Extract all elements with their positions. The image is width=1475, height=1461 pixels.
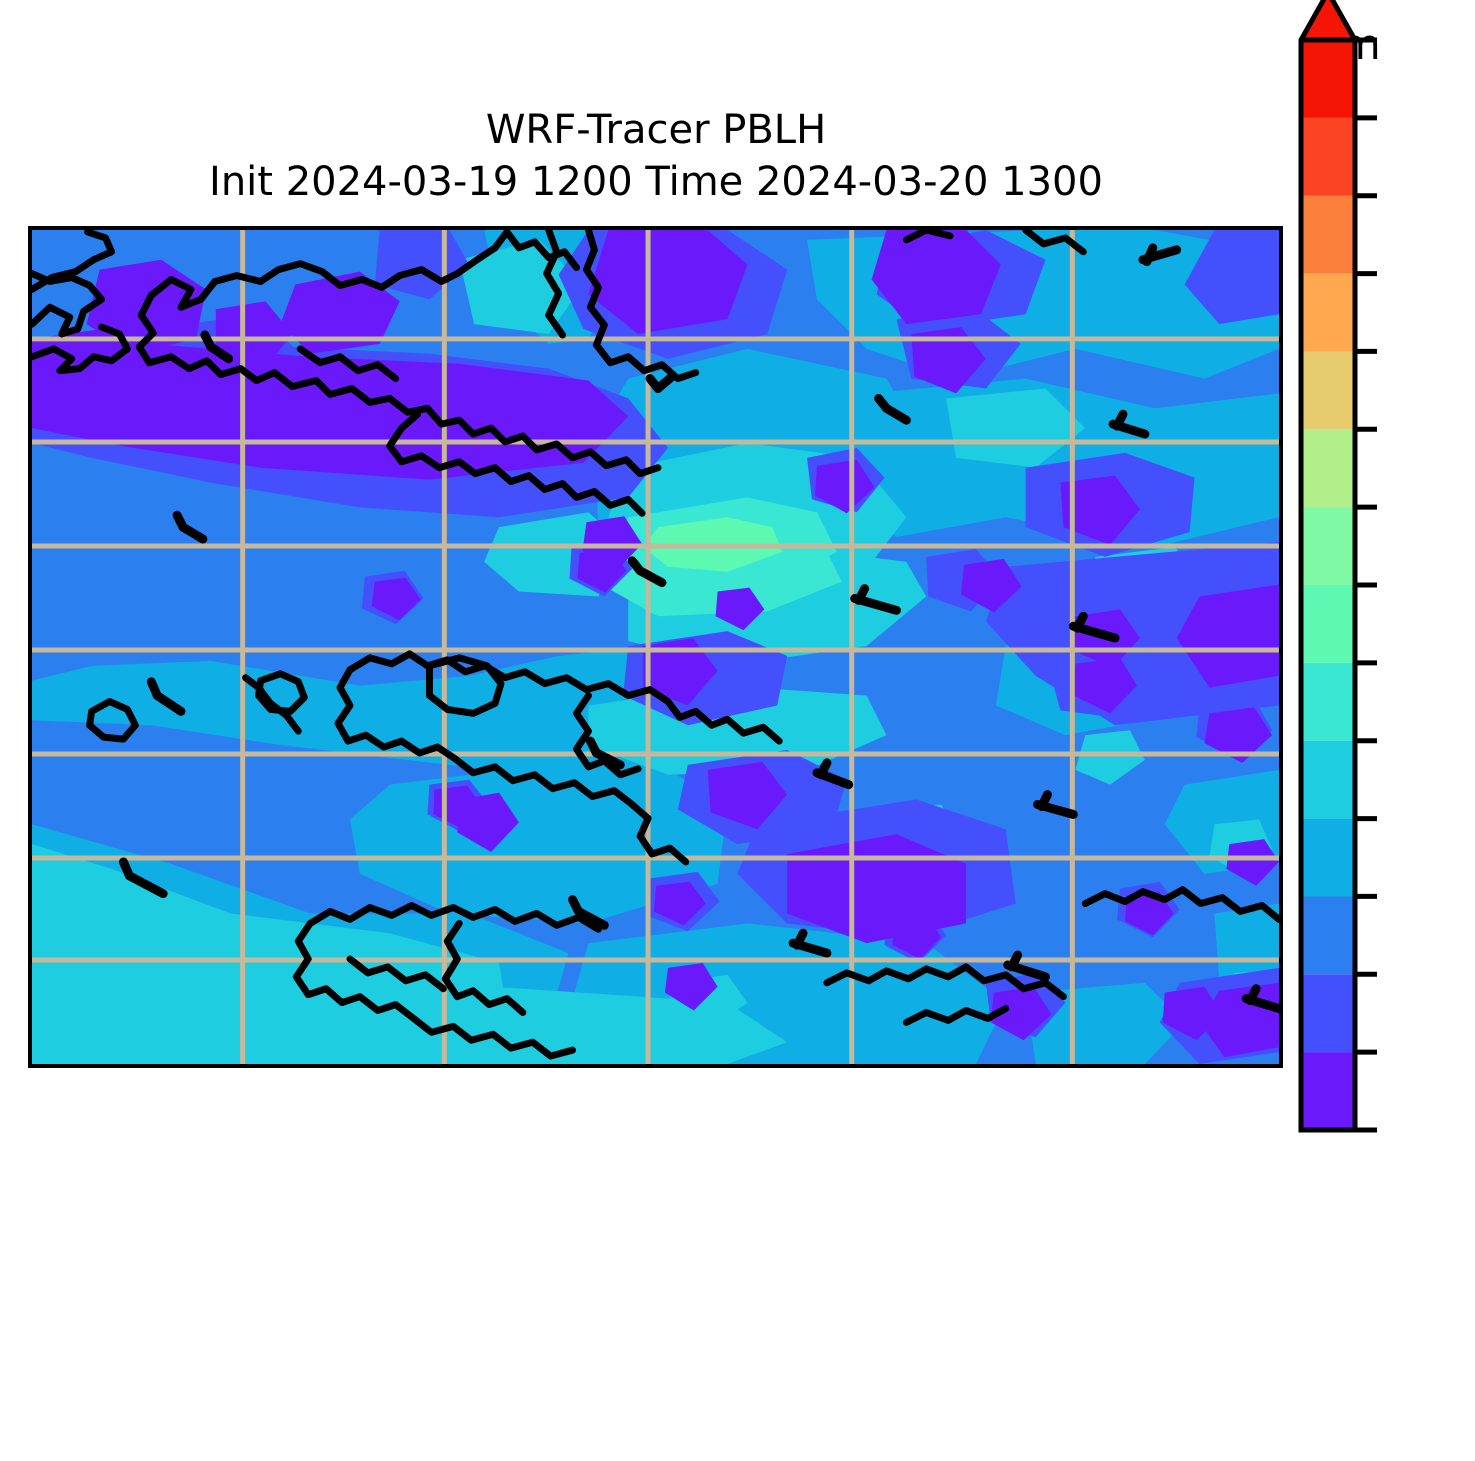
colorbar-bands	[1301, 40, 1355, 1130]
title-line-2: Init 2024-03-19 1200 Time 2024-03-20 130…	[28, 156, 1284, 208]
figure-root: WRF-Tracer PBLH Init 2024-03-19 1200 Tim…	[0, 0, 1475, 1256]
colorbar-ticks	[1355, 40, 1377, 1130]
title-line-1: WRF-Tracer PBLH	[28, 104, 1284, 156]
colorbar[interactable]: 3 2.8 2.6 2.4 2.2 2 1.8 1.6 1.4 1.2 1 0.…	[1301, 130, 1355, 1220]
pblh-contour-map	[32, 230, 1279, 1064]
colorbar-svg	[1289, 82, 1367, 1232]
page-title: WRF-Tracer PBLH Init 2024-03-19 1200 Tim…	[28, 104, 1284, 208]
map-plot-area	[28, 226, 1283, 1068]
